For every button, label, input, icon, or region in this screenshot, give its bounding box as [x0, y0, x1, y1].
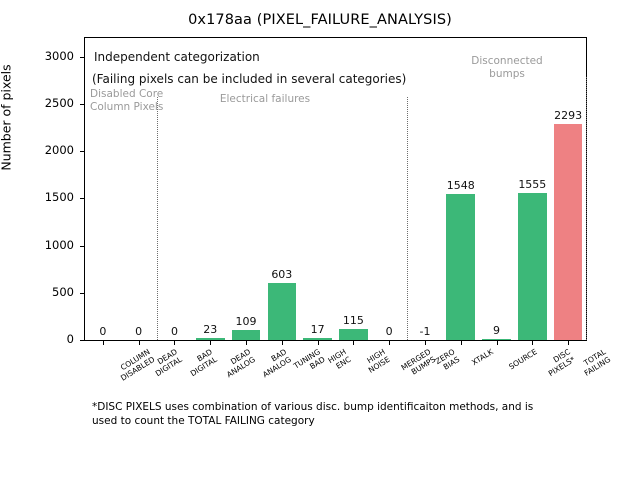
x-axis-tick-label: SOURCE [507, 348, 538, 372]
x-axis-tick-mark [461, 341, 462, 345]
x-axis-tick-label: TUNING BAD [292, 348, 327, 379]
x-axis-tick-mark [425, 341, 426, 345]
x-axis-tick-mark [568, 341, 569, 345]
bar-value-label: 9 [467, 324, 527, 337]
x-axis-tick-mark [103, 341, 104, 345]
y-axis-tick-label: 2500 [45, 96, 74, 110]
y-axis-tick-mark [80, 340, 84, 341]
section-divider [586, 77, 587, 340]
bar [518, 193, 547, 340]
bar-value-label: -1 [395, 325, 455, 338]
bar [482, 339, 511, 340]
x-axis-tick-mark [174, 341, 175, 345]
x-axis-tick-mark [246, 341, 247, 345]
x-axis-tick-label: HIGH ENC [327, 348, 353, 374]
x-axis-tick-label: ZERO BIAS [434, 348, 462, 374]
x-axis-tick-label: BAD DIGITAL [185, 348, 220, 379]
y-axis-tick-label: 3000 [45, 49, 74, 63]
x-axis-tick-mark [139, 341, 140, 345]
y-axis-tick-label: 1000 [45, 238, 74, 252]
section-divider [407, 97, 408, 340]
x-axis-tick-mark [282, 341, 283, 345]
bar [554, 124, 583, 340]
x-axis-tick-mark [389, 341, 390, 345]
y-axis-label: Number of pixels [0, 0, 14, 288]
x-axis-tick-mark [210, 341, 211, 345]
x-axis-tick-label: BAD ANALOG [257, 348, 294, 380]
annotation-electrical-failures: Electrical failures [175, 93, 355, 106]
bar-value-label: 2293 [538, 109, 598, 122]
y-axis-tick-label: 500 [52, 285, 74, 299]
y-axis-tick-mark [80, 57, 84, 58]
x-axis-tick-mark [497, 341, 498, 345]
bar [303, 338, 332, 340]
x-axis-tick-mark [353, 341, 354, 345]
y-axis-tick-mark [80, 104, 84, 105]
x-axis-tick-label: DEAD ANALOG [221, 348, 258, 380]
x-axis-tick-mark [532, 341, 533, 345]
y-axis-tick-mark [80, 246, 84, 247]
chart-figure: 0x178aa (PIXEL_FAILURE_ANALYSIS) Number … [0, 0, 640, 480]
y-axis-tick-mark [80, 198, 84, 199]
x-axis-tick-label: DEAD DIGITAL [149, 348, 184, 379]
bar-value-label: 1555 [502, 178, 562, 191]
y-axis-tick-label: 1500 [45, 190, 74, 204]
bar-value-label: 603 [252, 268, 312, 281]
y-axis-tick-mark [80, 151, 84, 152]
chart-footnote: *DISC PIXELS uses combination of various… [92, 400, 612, 428]
page-title: 0x178aa (PIXEL_FAILURE_ANALYSIS) [0, 12, 640, 28]
x-axis-tick-label: TOTAL FAILING [579, 348, 613, 379]
x-axis-tick-label: XTALK [470, 348, 495, 368]
annotation-independent-categorization: Independent categorization [94, 48, 494, 67]
y-axis-tick-mark [80, 293, 84, 294]
section-divider [157, 97, 158, 340]
bar [446, 194, 475, 340]
x-axis-tick-mark [318, 341, 319, 345]
x-axis-tick-label: MERGED BUMPS [400, 348, 438, 381]
bar-value-label: 1548 [431, 179, 491, 192]
annotation-disconnected-bumps: Disconnected bumps [452, 55, 562, 82]
bar-value-label: 109 [216, 315, 276, 328]
bar [196, 338, 225, 340]
x-axis-tick-label: DISC PIXELS* [543, 348, 578, 379]
x-axis-tick-label: HIGH NOISE [363, 348, 392, 376]
y-axis-tick-label: 2000 [45, 143, 74, 157]
